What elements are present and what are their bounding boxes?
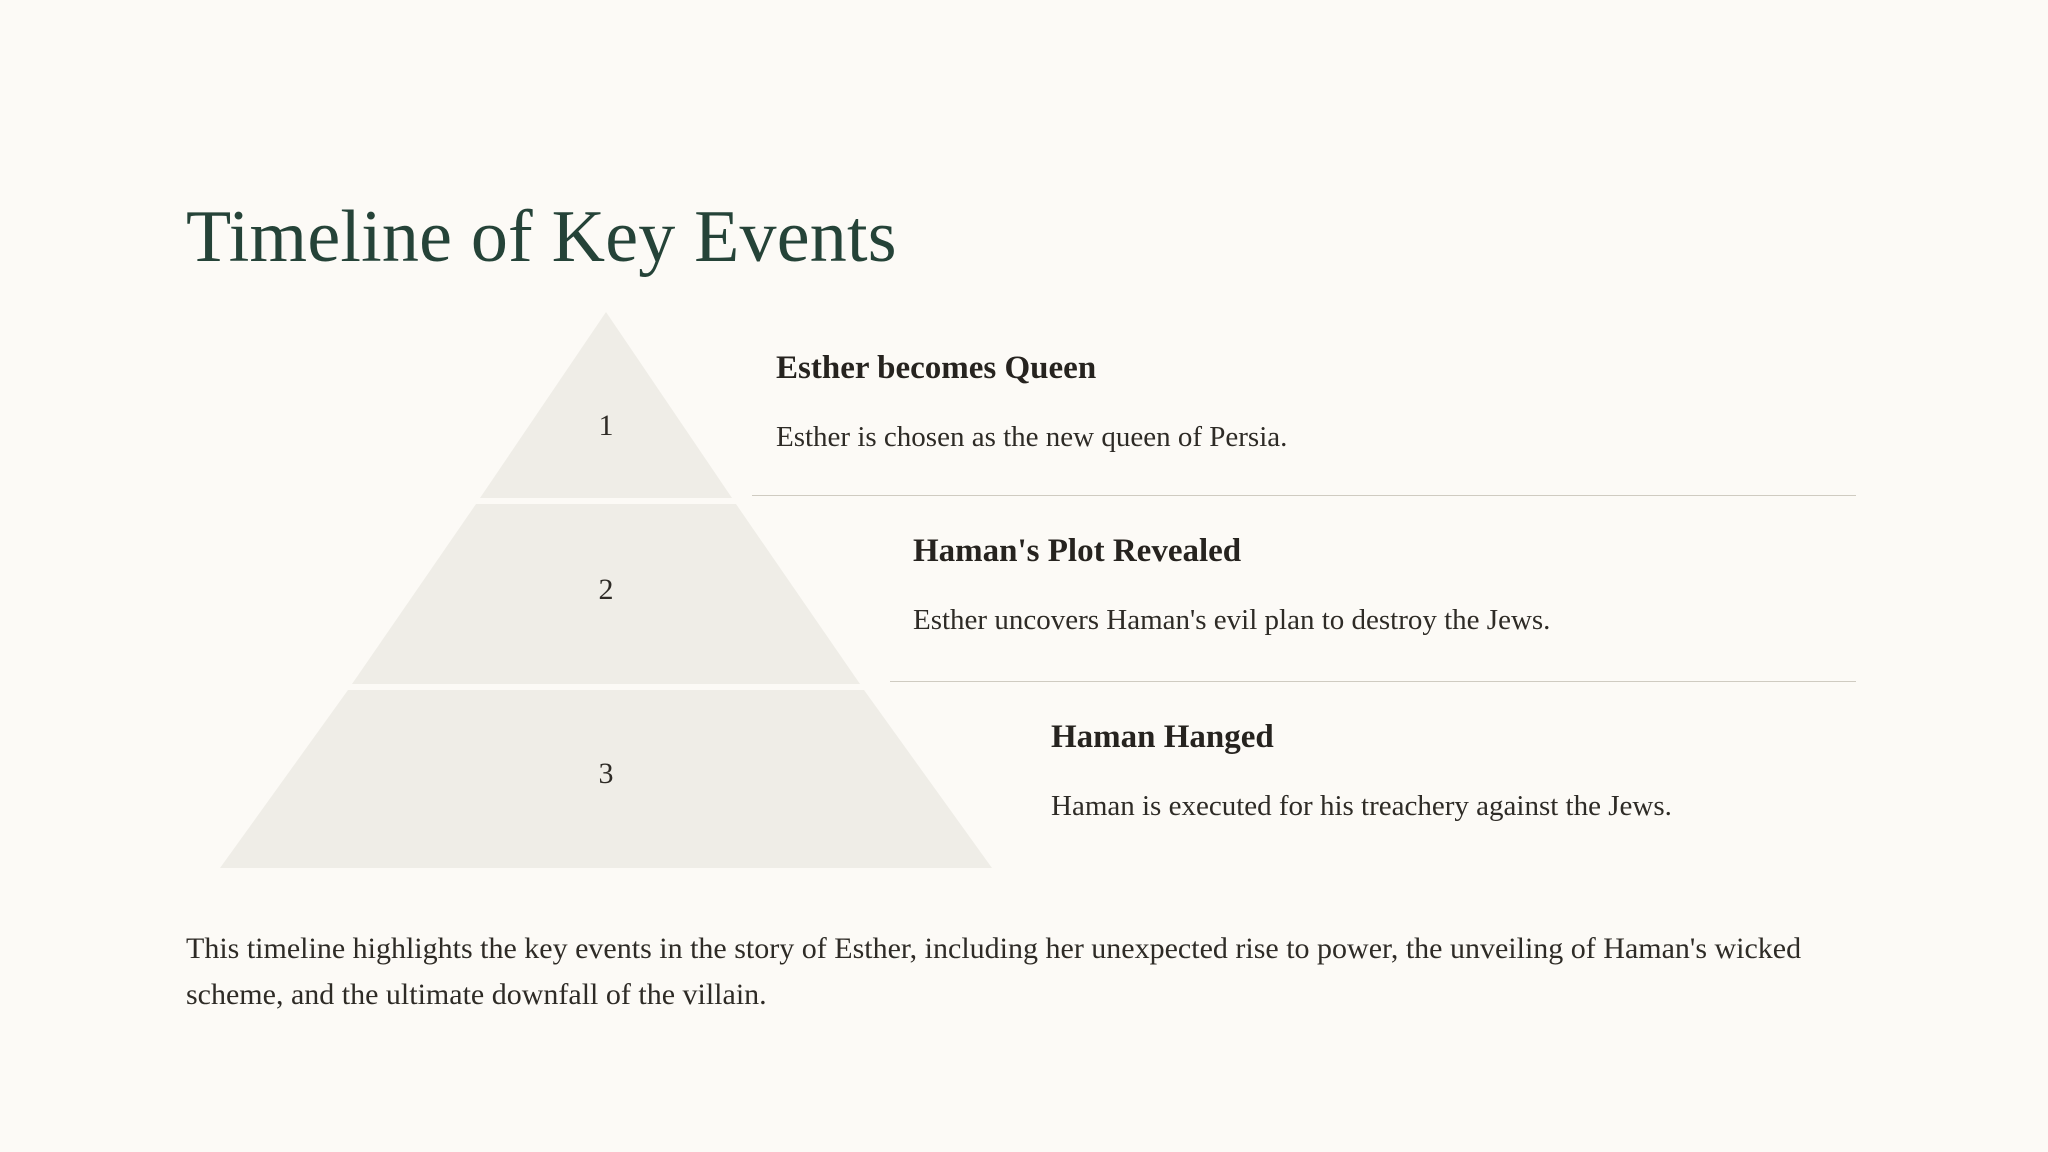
timeline-row-3-heading: Haman Hanged [1051, 717, 1672, 758]
pyramid-level-2-number: 2 [576, 575, 636, 605]
timeline-row-1-description: Esther is chosen as the new queen of Per… [776, 419, 1287, 457]
timeline-row-2: Haman's Plot Revealed Esther uncovers Ha… [913, 531, 1550, 640]
timeline-caption: This timeline highlights the key events … [186, 926, 1876, 1017]
timeline-row-2-description: Esther uncovers Haman's evil plan to des… [913, 602, 1550, 640]
pyramid-level-3-number: 3 [576, 759, 636, 789]
row-divider-2 [890, 681, 1856, 682]
pyramid-level-1-number: 1 [576, 411, 636, 441]
timeline-row-1: Esther becomes Queen Esther is chosen as… [776, 348, 1287, 457]
timeline-row-3-description: Haman is executed for his treachery agai… [1051, 788, 1672, 826]
timeline-row-3: Haman Hanged Haman is executed for his t… [1051, 717, 1672, 826]
timeline-row-2-heading: Haman's Plot Revealed [913, 531, 1550, 572]
row-divider-1 [752, 495, 1856, 496]
slide-root: Timeline of Key Events 1 2 3 Esther beco… [0, 0, 2048, 1152]
pyramid-level-1-segment[interactable] [480, 312, 732, 498]
timeline-row-1-heading: Esther becomes Queen [776, 348, 1287, 389]
